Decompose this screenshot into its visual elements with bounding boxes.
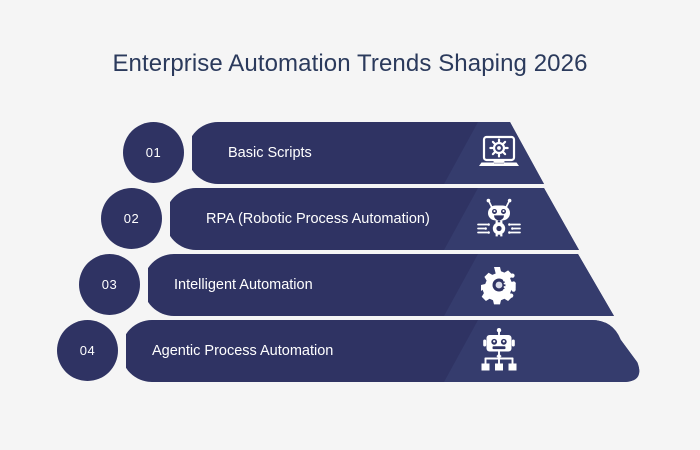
- pyramid-level[interactable]: 04Agentic Process Automation: [0, 320, 700, 382]
- level-bar[interactable]: Basic Scripts: [192, 122, 544, 184]
- pyramid-level[interactable]: 01Basic Scripts: [0, 122, 700, 184]
- level-bar[interactable]: Intelligent Automation: [148, 254, 614, 316]
- level-number-badge[interactable]: 02: [101, 188, 162, 249]
- pyramid-level[interactable]: 03Intelligent Automation: [0, 254, 700, 316]
- pyramid-diagram: 01Basic Scripts 02RPA (Robotic Process A…: [0, 108, 700, 398]
- level-bar[interactable]: Agentic Process Automation: [126, 320, 645, 382]
- level-number-badge[interactable]: 04: [57, 320, 118, 381]
- infographic-canvas: Enterprise Automation Trends Shaping 202…: [0, 0, 700, 450]
- page-title: Enterprise Automation Trends Shaping 202…: [0, 50, 700, 78]
- level-bar[interactable]: RPA (Robotic Process Automation): [170, 188, 579, 250]
- level-number-badge[interactable]: 01: [123, 122, 184, 183]
- level-number-badge[interactable]: 03: [79, 254, 140, 315]
- pyramid-level[interactable]: 02RPA (Robotic Process Automation): [0, 188, 700, 250]
